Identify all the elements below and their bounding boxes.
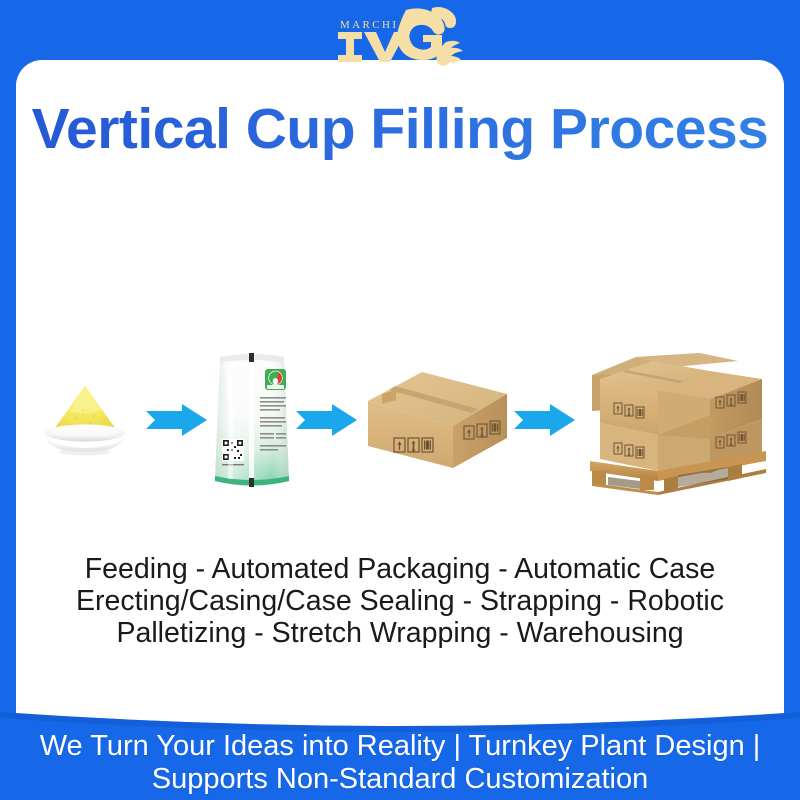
content-card-foot bbox=[0, 672, 800, 732]
flow-stage-sealed-carton bbox=[360, 368, 512, 472]
company-logo: MARCHI bbox=[0, 2, 800, 72]
flow-stage-loaded-pallet bbox=[578, 345, 774, 495]
flow-stage-filled-pouch bbox=[210, 347, 294, 493]
flow-arrow-2-icon bbox=[296, 403, 358, 437]
flow-arrow-3-icon bbox=[514, 403, 576, 437]
page-title: Vertical Cup Filling Process bbox=[16, 100, 784, 160]
flow-arrow-1-icon bbox=[146, 403, 208, 437]
palletized-wrapped-boxes-icon bbox=[578, 345, 774, 495]
sealed-cardboard-carton-icon bbox=[360, 368, 512, 472]
footer-tagline: We Turn Your Ideas into Reality | Turnke… bbox=[0, 730, 800, 796]
poster-root: MARCHI Vertical Cup Filling Process bbox=[0, 0, 800, 800]
logo-marchi-text: MARCHI bbox=[340, 19, 398, 31]
process-flow bbox=[16, 310, 784, 530]
filled-product-pouch-icon bbox=[210, 347, 294, 493]
marchi-ivg-logo-mark: MARCHI bbox=[320, 6, 480, 68]
yellow-powder-in-dish-icon bbox=[26, 378, 144, 462]
process-caption: Feeding - Automated Packaging - Automati… bbox=[16, 554, 784, 650]
content-card: Vertical Cup Filling Process bbox=[16, 60, 784, 720]
flow-stage-raw-powder bbox=[26, 378, 144, 462]
